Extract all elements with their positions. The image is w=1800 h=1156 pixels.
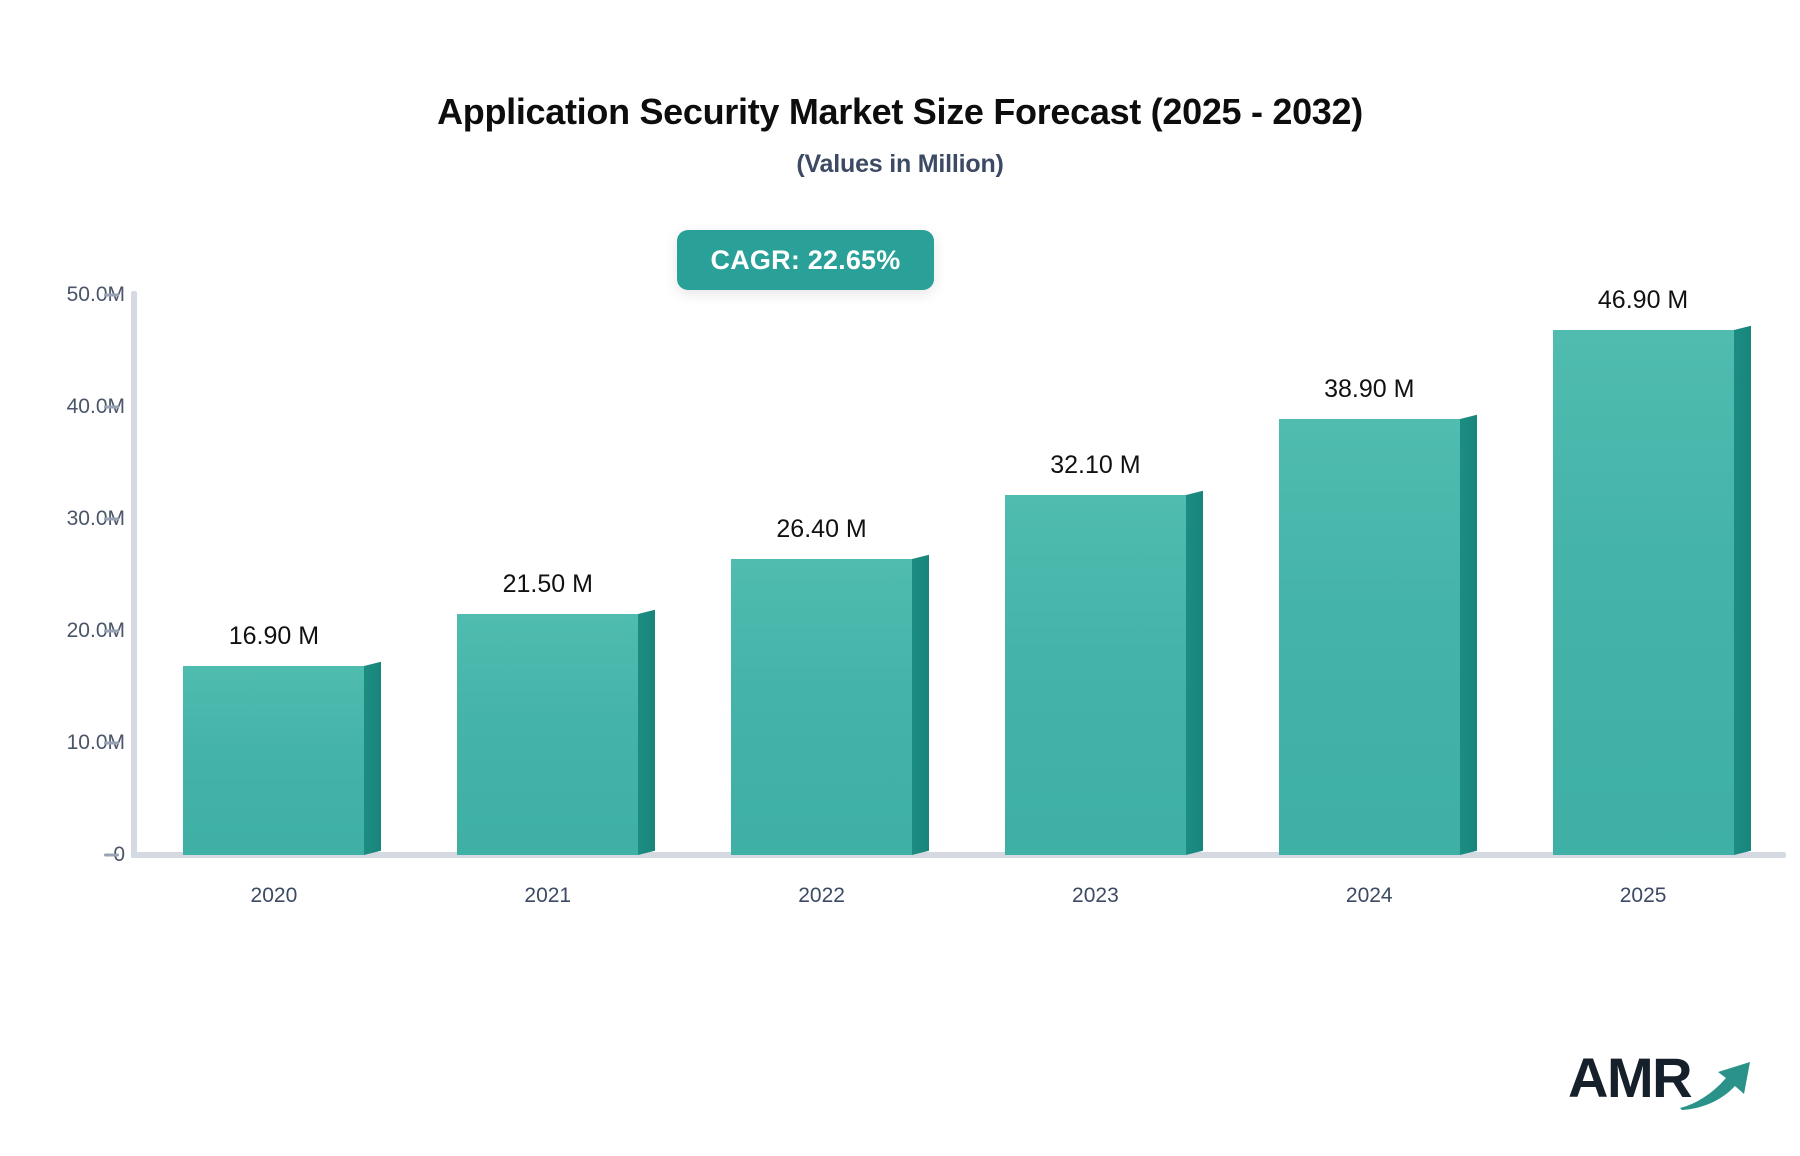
bar-face	[1279, 419, 1460, 855]
bar-value-label: 26.40 M	[702, 515, 942, 544]
bar-value-label: 46.90 M	[1523, 286, 1763, 315]
bar-side-face	[1186, 491, 1203, 855]
bar-side-face	[912, 555, 929, 855]
y-tick-mark	[104, 406, 119, 409]
bar-face	[457, 614, 638, 855]
bar-value-label: 21.50 M	[428, 570, 668, 599]
bar-column[interactable]	[1005, 495, 1186, 855]
bar-value-label: 16.90 M	[154, 622, 394, 651]
bar-side-face	[638, 610, 655, 855]
bar-value-label: 38.90 M	[1249, 375, 1489, 404]
bar-side-face	[1460, 415, 1477, 855]
bar-value-label: 32.10 M	[975, 451, 1215, 480]
x-tick-label: 2025	[1523, 884, 1763, 908]
x-tick-label: 2022	[702, 884, 942, 908]
bar-side-face	[1734, 325, 1751, 855]
bar-face	[1553, 330, 1734, 855]
chart-canvas: Application Security Market Size Forecas…	[0, 0, 1800, 1156]
y-tick-mark	[104, 518, 119, 521]
amr-logo: AMR	[1568, 1040, 1756, 1112]
bar-column[interactable]	[1279, 419, 1460, 855]
x-tick-label: 2023	[975, 884, 1215, 908]
bar-face	[731, 559, 912, 855]
x-tick-label: 2021	[428, 884, 668, 908]
plot-area: 010.0M20.0M30.0M40.0M50.0M 16.90 M21.50 …	[0, 0, 1800, 1156]
x-tick-label: 2024	[1249, 884, 1489, 908]
bar-face	[183, 666, 364, 855]
bar-face	[1005, 495, 1186, 855]
bar-side-face	[364, 661, 381, 855]
x-axis-line	[131, 852, 1786, 858]
y-tick-mark	[104, 630, 119, 633]
y-tick-mark	[104, 294, 119, 297]
x-tick-label: 2020	[154, 884, 394, 908]
bar-column[interactable]	[1553, 330, 1734, 855]
y-tick-mark	[104, 854, 119, 857]
amr-logo-text: AMR	[1568, 1050, 1691, 1106]
growth-arrow-icon	[1678, 1054, 1756, 1110]
bar-column[interactable]	[457, 614, 638, 855]
y-axis-line	[131, 291, 137, 857]
bar-column[interactable]	[183, 666, 364, 855]
bar-column[interactable]	[731, 559, 912, 855]
y-tick-mark	[104, 742, 119, 745]
